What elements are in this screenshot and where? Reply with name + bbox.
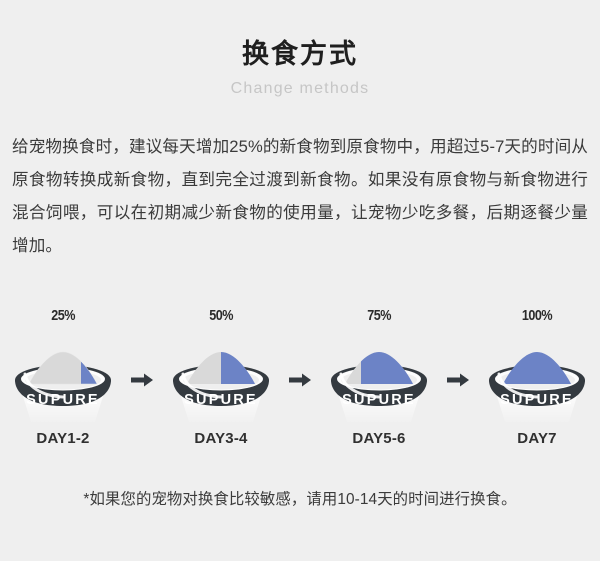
bowl-illustration-icon: SUPURE bbox=[315, 334, 443, 426]
footnote-text: *如果您的宠物对换食比较敏感，请用10-14天的时间进行换食。 bbox=[0, 487, 600, 509]
bowl-brand-label: SUPURE bbox=[500, 392, 574, 408]
transition-step: 75% bbox=[315, 306, 443, 426]
page-subtitle: Change methods bbox=[0, 80, 600, 98]
arrow-right-icon bbox=[443, 334, 473, 426]
step-percent-label: 75% bbox=[367, 306, 391, 325]
bowl-brand-label: SUPURE bbox=[342, 392, 416, 408]
food-bowl-75: SUPURE bbox=[315, 334, 443, 426]
instruction-paragraph: 给宠物换食时，建议每天增加25%的新食物到原食物中，用超过5-7天的时间从原食物… bbox=[12, 130, 588, 262]
page-title: 换食方式 bbox=[0, 38, 600, 70]
arrow-right-icon bbox=[127, 334, 157, 426]
step-day-label: DAY1-2 bbox=[36, 430, 89, 447]
page-header: 换食方式 Change methods bbox=[0, 0, 600, 98]
step-day-label: DAY5-6 bbox=[352, 430, 405, 447]
food-bowl-50: SUPURE bbox=[157, 334, 285, 426]
bowl-brand-label: SUPURE bbox=[26, 392, 100, 408]
transition-step: 50% bbox=[157, 306, 285, 426]
transition-step: 25% bbox=[0, 306, 127, 426]
food-bowl-100: SUPURE bbox=[473, 334, 600, 426]
step-day-label: DAY3-4 bbox=[194, 430, 247, 447]
bowl-illustration-icon: SUPURE bbox=[473, 334, 600, 426]
transition-diagram: 25% bbox=[0, 306, 600, 456]
step-percent-label: 25% bbox=[51, 306, 75, 325]
step-percent-label: 50% bbox=[209, 306, 233, 325]
step-day-label: DAY7 bbox=[517, 430, 556, 447]
step-percent-label: 100% bbox=[522, 306, 552, 325]
arrow-right-icon bbox=[285, 334, 315, 426]
bowl-brand-label: SUPURE bbox=[184, 392, 258, 408]
food-bowl-25: SUPURE bbox=[0, 334, 127, 426]
bowl-illustration-icon: SUPURE bbox=[157, 334, 285, 426]
transition-step: 100% bbox=[473, 306, 600, 426]
bowl-illustration-icon: SUPURE bbox=[0, 334, 127, 426]
page-root: 换食方式 Change methods 给宠物换食时，建议每天增加25%的新食物… bbox=[0, 0, 600, 561]
